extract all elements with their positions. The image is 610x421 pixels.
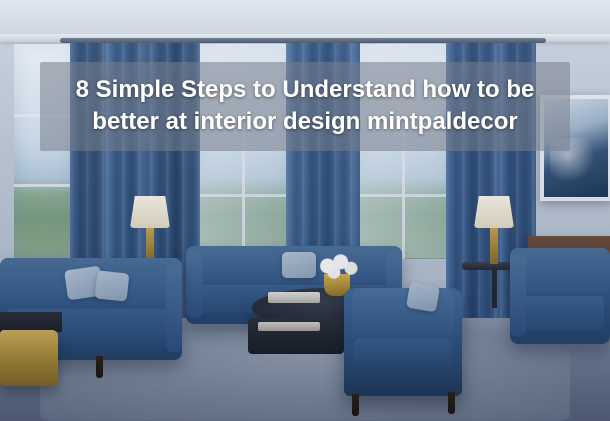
coffee-table-books — [268, 292, 320, 303]
title-overlay: 8 Simple Steps to Understand how to be b… — [40, 62, 570, 151]
sofa-arm-left — [510, 254, 526, 337]
sofa-arm-right — [166, 264, 182, 352]
throw-pillow — [95, 270, 130, 301]
gold-side-table — [0, 330, 58, 386]
side-table-right-leg — [492, 270, 497, 308]
coffee-table-books-lower — [258, 322, 320, 331]
table-lamp-left-shade — [130, 196, 170, 228]
throw-pillow — [406, 282, 440, 313]
dark-console — [0, 312, 62, 332]
hero-image-banner: 8 Simple Steps to Understand how to be b… — [0, 0, 610, 421]
armchair-leg — [352, 394, 359, 416]
armchair-leg — [448, 392, 455, 414]
sofa-leg — [96, 356, 103, 378]
armchair-seat — [354, 338, 452, 370]
table-lamp-right-shade — [474, 196, 514, 228]
armchair — [344, 288, 462, 396]
page-title: 8 Simple Steps to Understand how to be b… — [56, 74, 554, 137]
sofa-right — [510, 248, 610, 344]
table-lamp-right-base — [490, 228, 498, 264]
sofa-seat — [516, 296, 604, 331]
armchair-backrest — [352, 288, 454, 336]
curtain-rod — [60, 38, 546, 43]
throw-pillow — [282, 252, 316, 278]
white-flowers — [312, 252, 364, 280]
window-mullion — [14, 184, 74, 187]
sofa-arm-left — [186, 251, 202, 318]
